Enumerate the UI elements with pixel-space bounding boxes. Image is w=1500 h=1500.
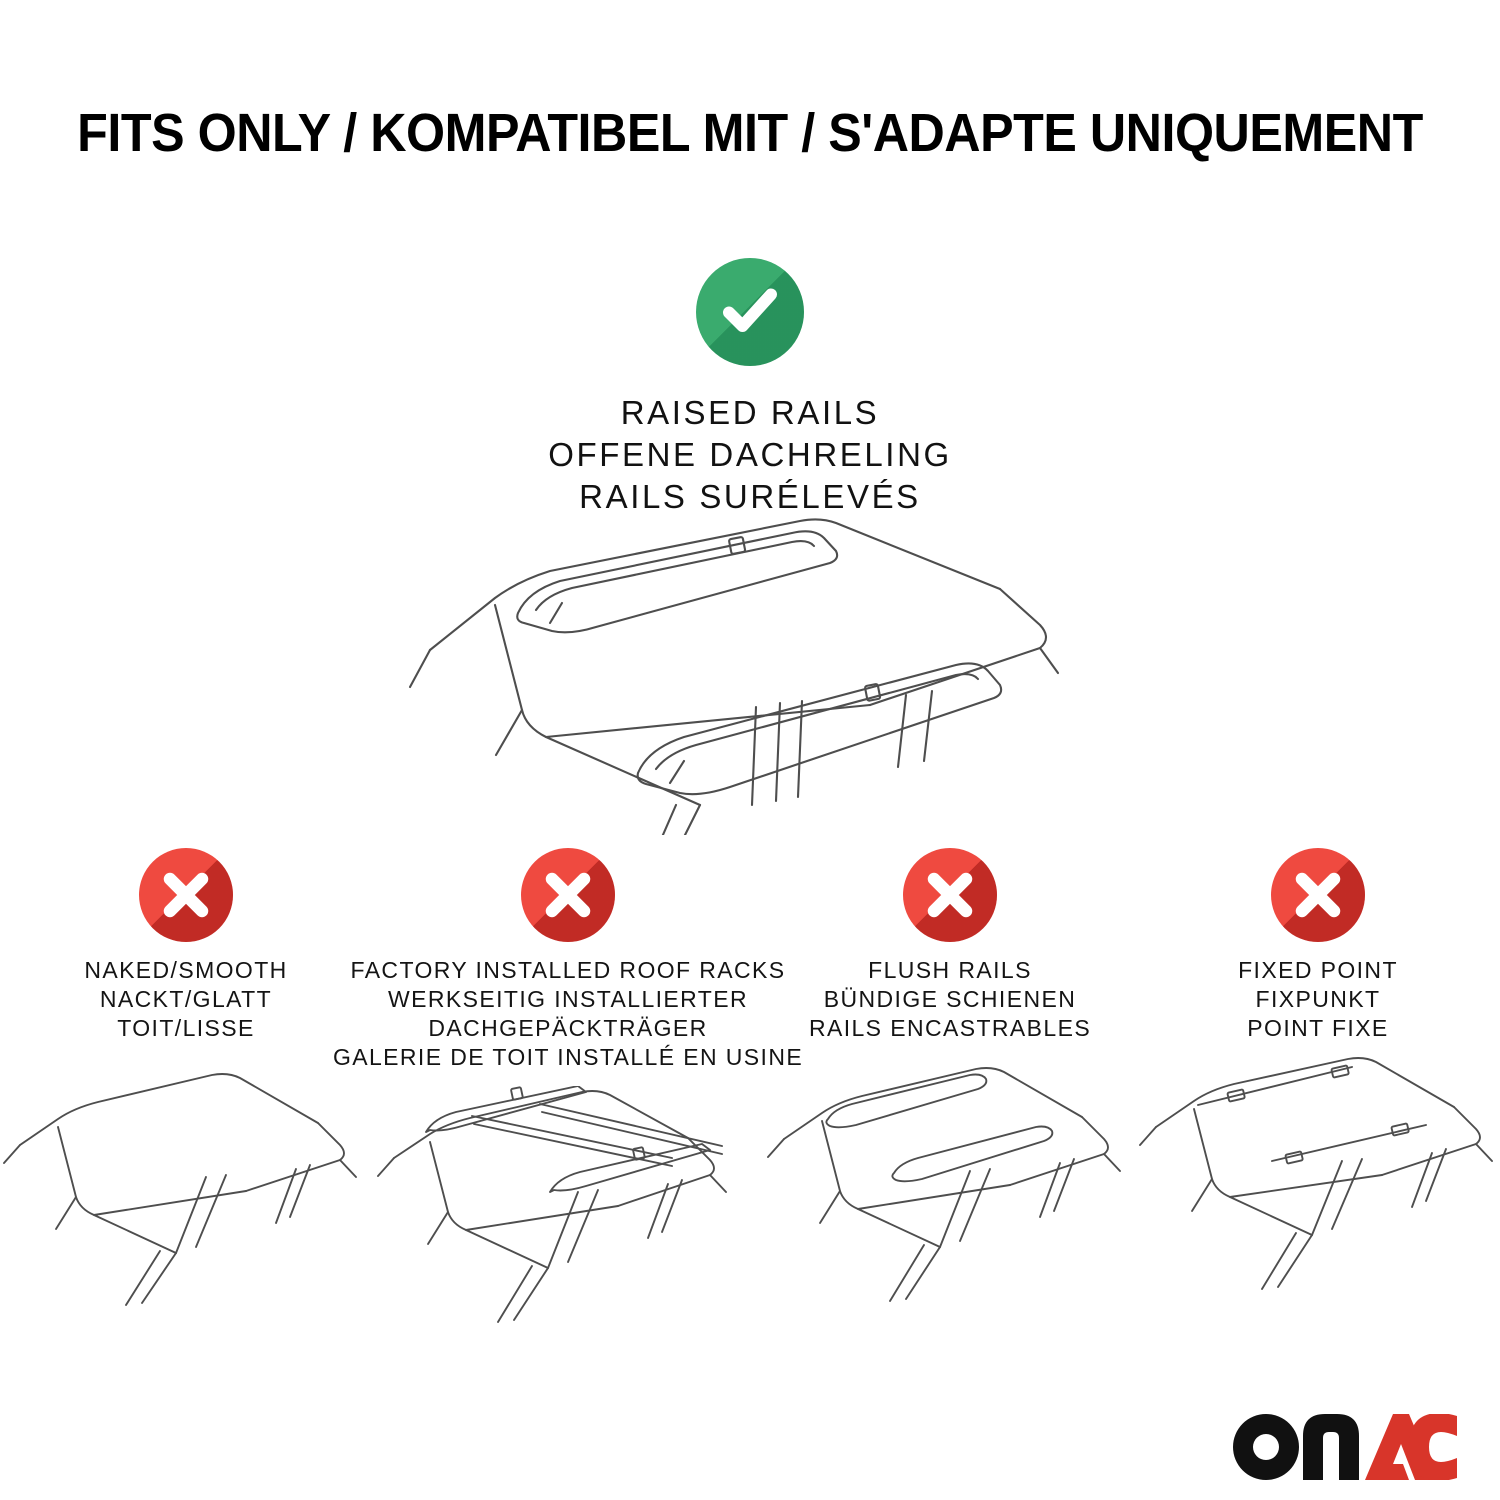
check-mark-glyph (696, 258, 804, 366)
rejected-label-line-4: GALERIE DE TOIT INSTALLÉ EN USINE (333, 1043, 803, 1072)
x-circle-icon (521, 848, 615, 942)
car-roof-raised-rails-illustration (400, 505, 1100, 835)
page-title: FITS ONLY / KOMPATIBEL MIT / S'ADAPTE UN… (53, 104, 1448, 162)
car-roof-fixed-point-drawing (1136, 1057, 1500, 1307)
approved-label-line-2: OFFENE DACHRELING (548, 434, 952, 476)
omac-logo-mark (1233, 1414, 1457, 1480)
rejected-column-fixed-point: FIXED POINT FIXPUNKT POINT FIXE (1136, 848, 1500, 1307)
rejected-label-line-3: DACHGEPÄCKTRÄGER (333, 1014, 803, 1043)
car-roof-naked-smooth-illustration (0, 1057, 372, 1307)
car-roof-naked-smooth-drawing (0, 1057, 372, 1307)
rejected-label-line-2: BÜNDIGE SCHIENEN (809, 985, 1091, 1014)
rejected-label-line-2: WERKSEITIG INSTALLIERTER (333, 985, 803, 1014)
x-mark-glyph (903, 848, 997, 942)
rejected-label-line-1: FACTORY INSTALLED ROOF RACKS (333, 956, 803, 985)
rejected-label: FLUSH RAILS BÜNDIGE SCHIENEN RAILS ENCAS… (809, 956, 1091, 1043)
rejected-label-line-3: RAILS ENCASTRABLES (809, 1014, 1091, 1043)
x-circle-icon (1271, 848, 1365, 942)
car-roof-factory-racks-illustration (372, 1086, 764, 1336)
check-circle-icon (696, 258, 804, 366)
rejected-label-line-3: POINT FIXE (1238, 1014, 1398, 1043)
rejected-label-line-2: NACKT/GLATT (84, 985, 287, 1014)
x-mark-glyph (1271, 848, 1365, 942)
rejected-label: FACTORY INSTALLED ROOF RACKS WERKSEITIG … (333, 956, 803, 1072)
car-roof-flush-rails-drawing (764, 1057, 1136, 1307)
approved-section: RAISED RAILS OFFENE DACHRELING RAILS SUR… (0, 258, 1500, 518)
rejected-section: NAKED/SMOOTH NACKT/GLATT TOIT/LISSE (0, 848, 1500, 1336)
x-circle-icon (139, 848, 233, 942)
x-mark-glyph (139, 848, 233, 942)
rejected-label: NAKED/SMOOTH NACKT/GLATT TOIT/LISSE (84, 956, 287, 1043)
rejected-column-flush-rails: FLUSH RAILS BÜNDIGE SCHIENEN RAILS ENCAS… (764, 848, 1136, 1307)
omac-logo-letter-o (1233, 1414, 1299, 1480)
x-mark-glyph (521, 848, 615, 942)
rejected-label: FIXED POINT FIXPUNKT POINT FIXE (1238, 956, 1398, 1043)
rejected-label-line-1: NAKED/SMOOTH (84, 956, 287, 985)
car-roof-factory-racks-drawing (372, 1086, 764, 1336)
rejected-column-factory-racks: FACTORY INSTALLED ROOF RACKS WERKSEITIG … (372, 848, 764, 1336)
car-roof-raised-rails-drawing (400, 505, 1100, 835)
approved-label: RAISED RAILS OFFENE DACHRELING RAILS SUR… (548, 392, 952, 518)
approved-label-line-1: RAISED RAILS (548, 392, 952, 434)
rejected-label-line-2: FIXPUNKT (1238, 985, 1398, 1014)
omac-logo-letter-m (1303, 1414, 1359, 1480)
rejected-column-naked-smooth: NAKED/SMOOTH NACKT/GLATT TOIT/LISSE (0, 848, 372, 1307)
car-roof-fixed-point-illustration (1136, 1057, 1500, 1307)
x-circle-icon (903, 848, 997, 942)
omac-logo-letter-c (1409, 1414, 1457, 1480)
rejected-label-line-3: TOIT/LISSE (84, 1014, 287, 1043)
rejected-label-line-1: FLUSH RAILS (809, 956, 1091, 985)
omac-logo (1233, 1414, 1457, 1480)
rejected-label-line-1: FIXED POINT (1238, 956, 1398, 985)
car-roof-flush-rails-illustration (764, 1057, 1136, 1307)
